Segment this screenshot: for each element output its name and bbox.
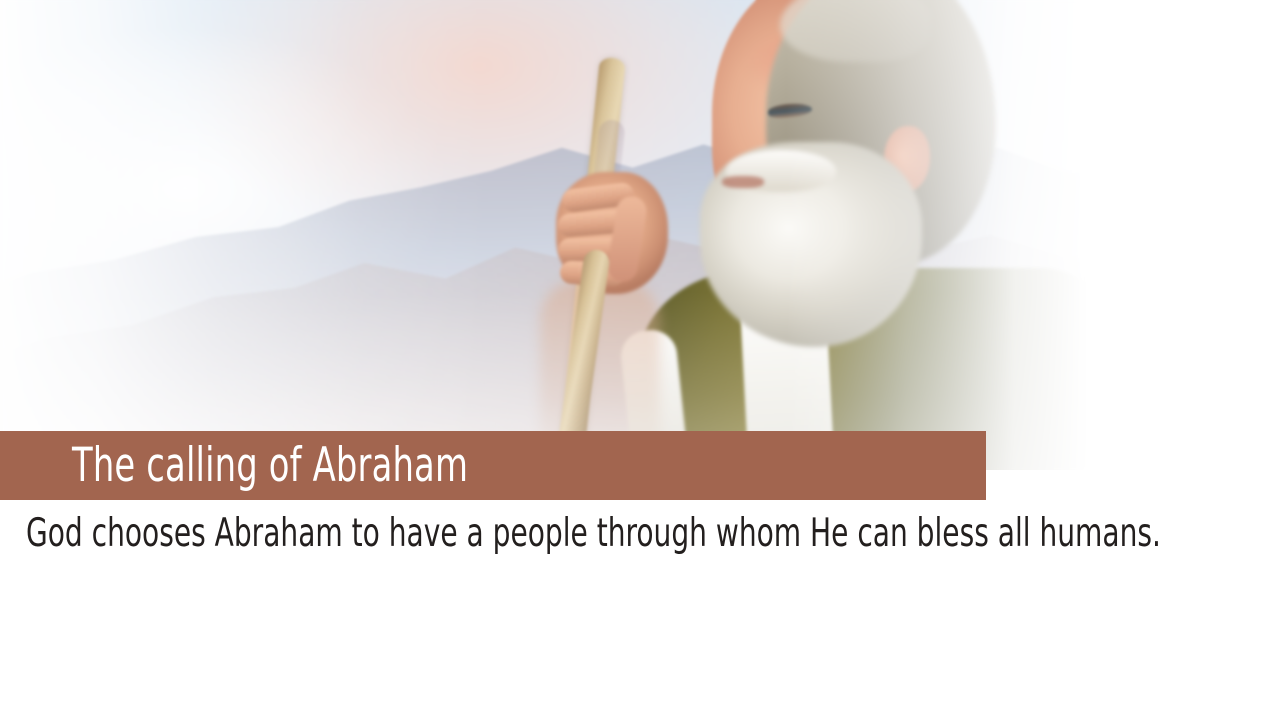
slide-subtitle: God chooses Abraham to have a people thr… [26, 512, 1161, 557]
title-banner: The calling of Abraham [0, 431, 986, 500]
image-right-fade [786, 0, 1086, 470]
slide-title: The calling of Abraham [72, 442, 468, 489]
slide-illustration [0, 0, 1086, 470]
presentation-slide: The calling of Abraham God chooses Abrah… [0, 0, 1280, 720]
